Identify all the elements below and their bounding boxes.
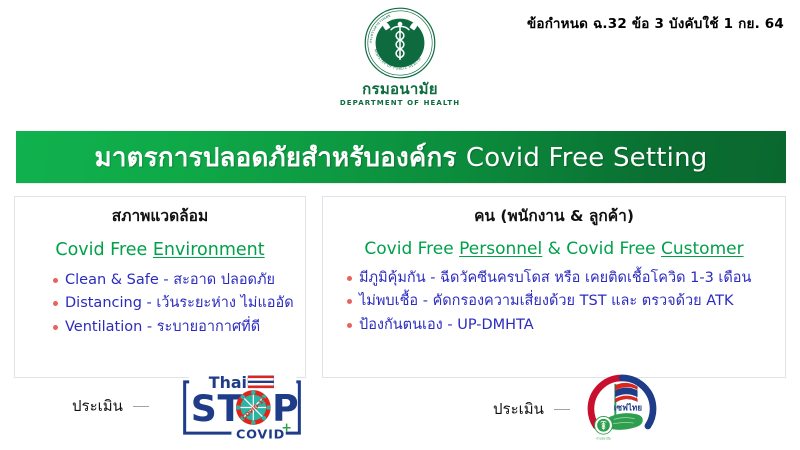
list-item: ป้องกันตนเอง - UP-DMHTA <box>345 314 785 337</box>
subtitle-underlined-customer: Customer <box>661 239 744 259</box>
assess-environment: ประเมิน Thai ST P <box>72 368 325 444</box>
subtitle-underlined-personnel: Personnel <box>459 239 542 259</box>
svg-text:ST: ST <box>191 387 243 430</box>
title-banner: มาตรการปลอดภัยสำหรับองค์กร Covid Free Se… <box>16 131 786 183</box>
svg-text:COVID: COVID <box>236 427 285 442</box>
page-title-thai: มาตรการปลอดภัยสำหรับองค์กร <box>95 143 466 173</box>
panel-environment-subtitle: Covid Free Environment <box>15 240 305 261</box>
org-name-en: DEPARTMENT OF HEALTH <box>340 99 460 107</box>
organization-logo: กระทรวงสาธารณสุข MINISTRY OF PUBLIC HEAL… <box>0 6 800 107</box>
subtitle-prefix: Covid Free <box>55 240 153 260</box>
panel-environment: สภาพแวดล้อม Covid Free Environment Clean… <box>14 196 306 378</box>
subtitle-joiner: & Covid Free <box>542 239 661 259</box>
svg-text:+: + <box>281 421 292 436</box>
list-item: มีภูมิคุ้มกัน - ฉีดวัคซีนครบโดส หรือ เคย… <box>345 267 785 290</box>
ministry-of-public-health-seal-icon: กระทรวงสาธารณสุข MINISTRY OF PUBLIC HEAL… <box>363 6 437 80</box>
people-measure-list: มีภูมิคุ้มกัน - ฉีดวัคซีนครบโดส หรือ เคย… <box>345 267 785 337</box>
assess-label: ประเมิน <box>72 394 123 418</box>
connector-dash <box>133 406 149 407</box>
panel-people: คน (พนักงาน & ลูกค้า) Covid Free Personn… <box>322 196 786 378</box>
subtitle-underlined-word: Environment <box>153 240 265 260</box>
thai-stop-covid-logo-icon[interactable]: Thai ST P <box>159 368 325 444</box>
page-title: มาตรการปลอดภัยสำหรับองค์กร Covid Free Se… <box>95 137 708 178</box>
environment-measure-list: Clean & Safe - สะอาด ปลอดภัย Distancing … <box>51 269 305 339</box>
safe-thai-logo-icon[interactable]: กรมอนามัย เซฟไทย <box>580 372 664 446</box>
panel-people-heading: คน (พนักงาน & ลูกค้า) <box>323 207 785 226</box>
svg-text:เซฟไทย: เซฟไทย <box>614 402 642 412</box>
panel-people-subtitle: Covid Free Personnel & Covid Free Custom… <box>323 239 785 259</box>
list-item: ไม่พบเชื้อ - คัดกรองความเสี่ยงด้วย TST แ… <box>345 290 785 313</box>
connector-dash <box>554 409 570 410</box>
org-name-th: กรมอนามัย <box>362 81 438 98</box>
slide-page: ข้อกำหนด ฉ.32 ข้อ 3 บังคับใช้ 1 กย. 64 ก… <box>0 0 800 450</box>
assess-label: ประเมิน <box>493 397 544 421</box>
assess-people: ประเมิน <box>493 372 664 446</box>
panel-environment-heading: สภาพแวดล้อม <box>15 207 305 226</box>
subtitle-prefix-1: Covid Free <box>364 239 459 259</box>
page-title-english: Covid Free Setting <box>466 143 708 173</box>
list-item: Distancing - เว้นระยะห่าง ไม่แออัด <box>51 292 305 315</box>
list-item: Clean & Safe - สะอาด ปลอดภัย <box>51 269 305 292</box>
list-item: Ventilation - ระบายอากาศที่ดี <box>51 316 305 339</box>
svg-text:กรมอนามัย: กรมอนามัย <box>596 436 611 440</box>
